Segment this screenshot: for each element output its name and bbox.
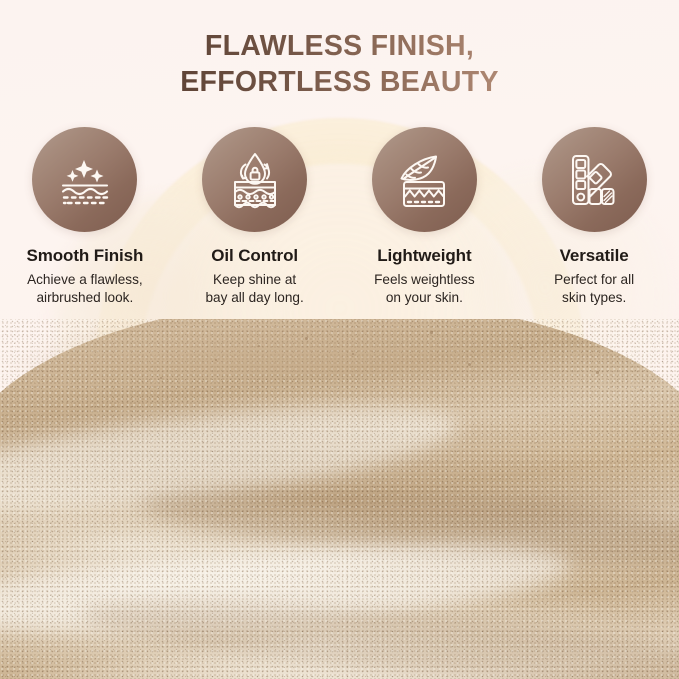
powder-image [0, 319, 679, 679]
dust-speck [305, 337, 308, 340]
feature-description: Keep shine at bay all day long. [206, 271, 304, 307]
feature-description-line-2: airbrushed look. [37, 290, 134, 305]
page-title: FLAWLESS FINISH, EFFORTLESS BEAUTY [0, 28, 679, 101]
dust-speck [215, 359, 217, 361]
dust-speck [596, 371, 599, 374]
feature-title: Versatile [560, 246, 629, 266]
dust-speck [258, 345, 260, 347]
feature-title: Oil Control [211, 246, 298, 266]
dust-speck [430, 331, 433, 334]
shade-swatch-fan-icon [562, 148, 626, 212]
dust-speck [160, 377, 162, 379]
oil-droplet-lock-skin-icon [223, 148, 287, 212]
powder-grain-texture [0, 319, 679, 679]
feature-item-lightweight: Lightweight Feels weightless on your ski… [340, 127, 510, 307]
page-title-line-1: FLAWLESS FINISH, [0, 28, 679, 64]
feature-icon-circle [32, 127, 137, 232]
feature-description: Achieve a flawless, airbrushed look. [27, 271, 143, 307]
feature-icon-circle [372, 127, 477, 232]
dust-speck [352, 353, 354, 355]
feature-description-line-2: bay all day long. [206, 290, 304, 305]
feature-description-line-2: skin types. [562, 290, 626, 305]
feature-description-line-2: on your skin. [386, 290, 463, 305]
feature-title: Lightweight [377, 246, 471, 266]
product-infographic: FLAWLESS FINISH, EFFORTLESS BEAUTY [0, 0, 679, 679]
powder-heap [0, 319, 679, 679]
feature-title: Smooth Finish [27, 246, 144, 266]
feature-icon-circle [202, 127, 307, 232]
feature-item-smooth-finish: Smooth Finish Achieve a flawless, airbru… [0, 127, 170, 307]
feature-description-line-1: Keep shine at [213, 272, 296, 287]
feature-description: Perfect for all skin types. [554, 271, 634, 307]
page-title-line-2: EFFORTLESS BEAUTY [0, 64, 679, 100]
feature-item-versatile: Versatile Perfect for all skin types. [509, 127, 679, 307]
feature-icon-circle [542, 127, 647, 232]
dust-speck [640, 389, 642, 391]
feature-description-line-1: Feels weightless [374, 272, 475, 287]
dust-speck [520, 347, 522, 349]
dust-speck [468, 363, 471, 366]
feature-list: Smooth Finish Achieve a flawless, airbru… [0, 127, 679, 307]
feather-skin-layers-icon [392, 148, 456, 212]
feature-description-line-1: Perfect for all [554, 272, 634, 287]
smooth-skin-sparkle-icon [53, 148, 117, 212]
feature-item-oil-control: Oil Control Keep shine at bay all day lo… [170, 127, 340, 307]
feature-description: Feels weightless on your skin. [374, 271, 475, 307]
powder-top-edge [0, 319, 679, 373]
feature-description-line-1: Achieve a flawless, [27, 272, 143, 287]
